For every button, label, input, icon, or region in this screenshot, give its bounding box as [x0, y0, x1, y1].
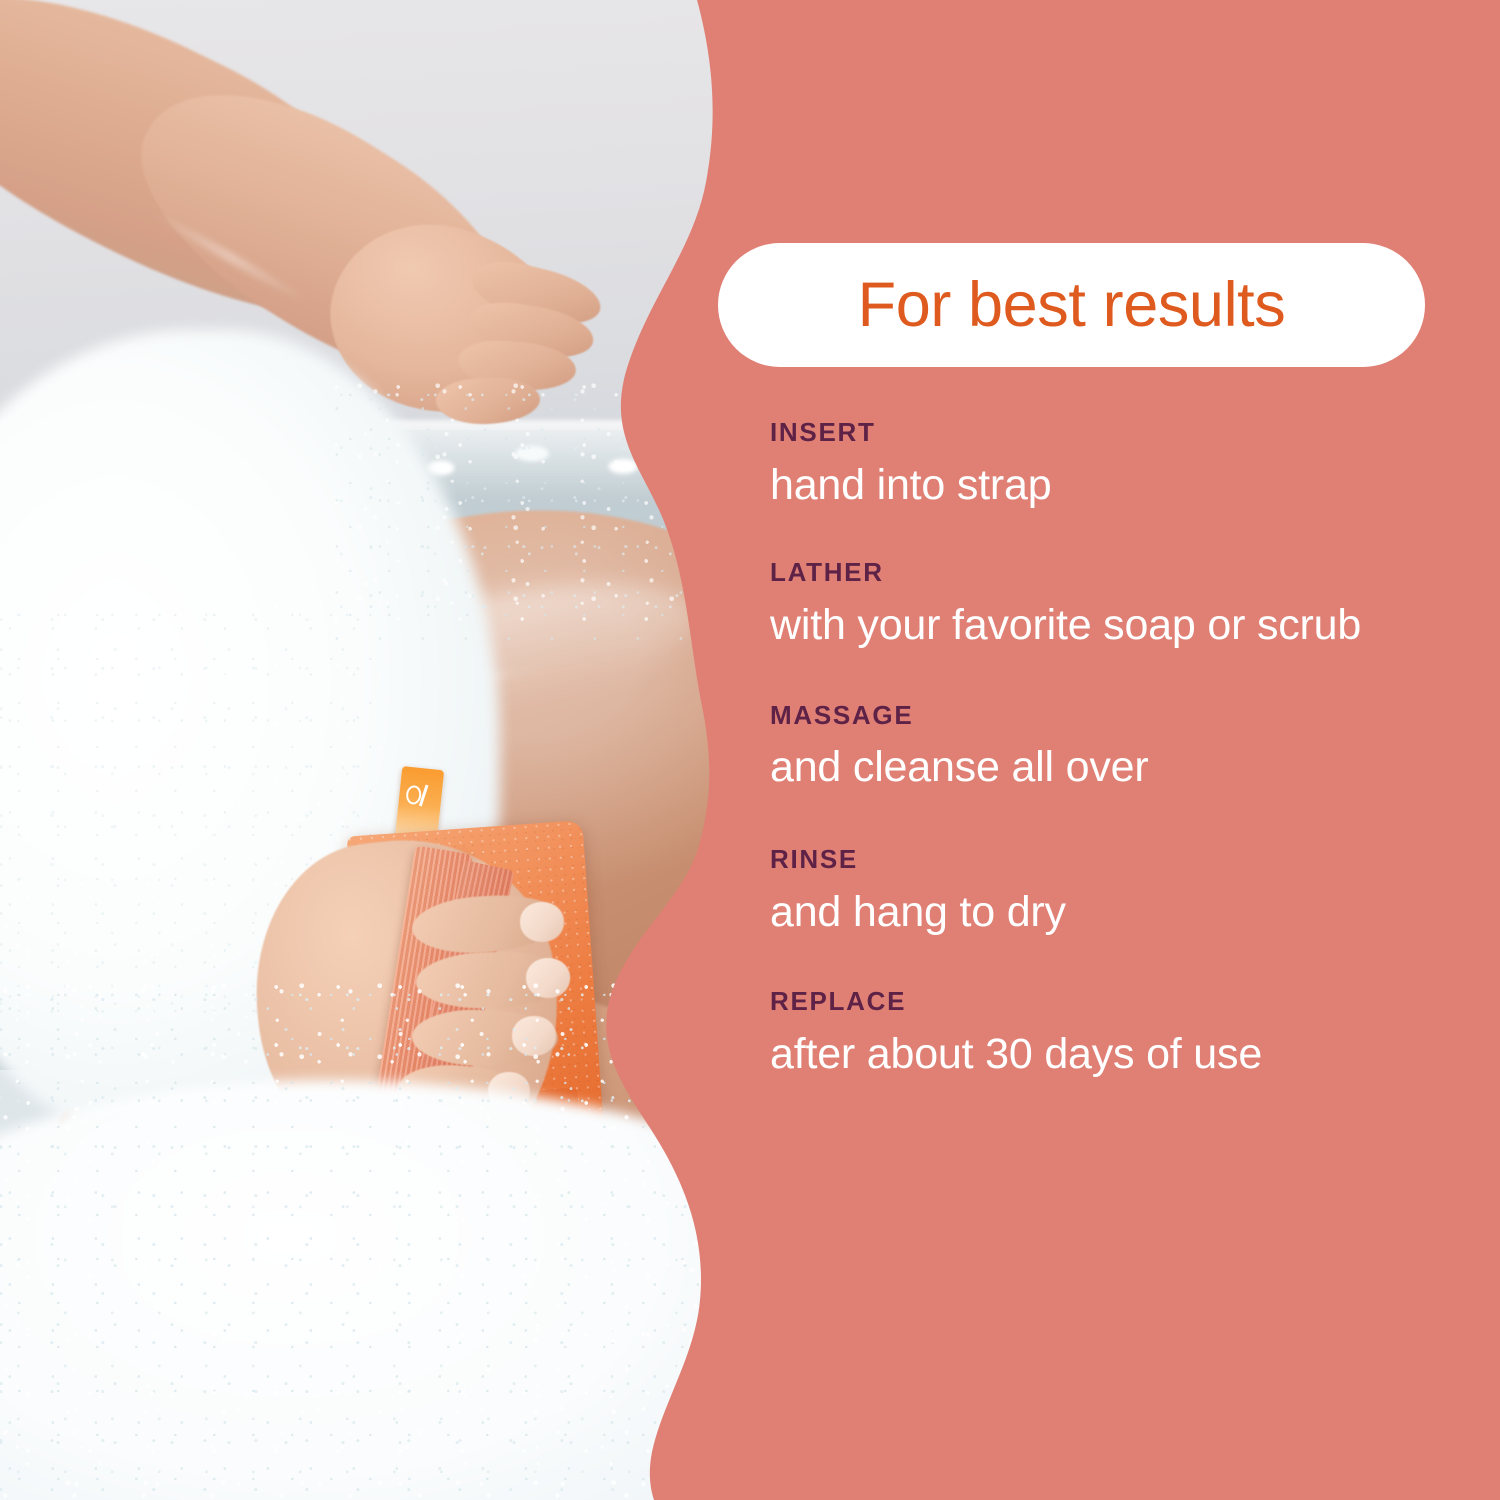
- step-text: and hang to dry: [770, 887, 1460, 938]
- page-title: For best results: [858, 274, 1286, 337]
- step-label: RINSE: [770, 845, 1490, 874]
- product-instruction-card: For best results INSERT hand into strap …: [0, 0, 1500, 1500]
- fingernail: [520, 902, 564, 942]
- step-lather: LATHER with your favorite soap or scrub: [770, 558, 1490, 650]
- bath-photo: [0, 0, 760, 1500]
- step-label: LATHER: [770, 558, 1490, 587]
- step-massage: MASSAGE and cleanse all over: [770, 701, 1490, 793]
- steps-list: INSERT hand into strap LATHER with your …: [770, 418, 1490, 1080]
- step-text: hand into strap: [770, 460, 1460, 511]
- step-label: REPLACE: [770, 987, 1490, 1016]
- step-text: after about 30 days of use: [770, 1029, 1460, 1080]
- step-insert: INSERT hand into strap: [770, 418, 1490, 510]
- title-pill: For best results: [718, 243, 1425, 367]
- step-label: INSERT: [770, 418, 1490, 447]
- step-text: with your favorite soap or scrub: [770, 600, 1460, 651]
- step-replace: REPLACE after about 30 days of use: [770, 987, 1490, 1079]
- bubble-texture: [0, 980, 760, 1500]
- io-logo-icon: [403, 781, 436, 814]
- step-label: MASSAGE: [770, 701, 1490, 730]
- step-text: and cleanse all over: [770, 742, 1460, 793]
- instructions-panel: For best results INSERT hand into strap …: [760, 0, 1500, 1500]
- step-rinse: RINSE and hang to dry: [770, 845, 1490, 937]
- bubble-texture: [330, 380, 760, 640]
